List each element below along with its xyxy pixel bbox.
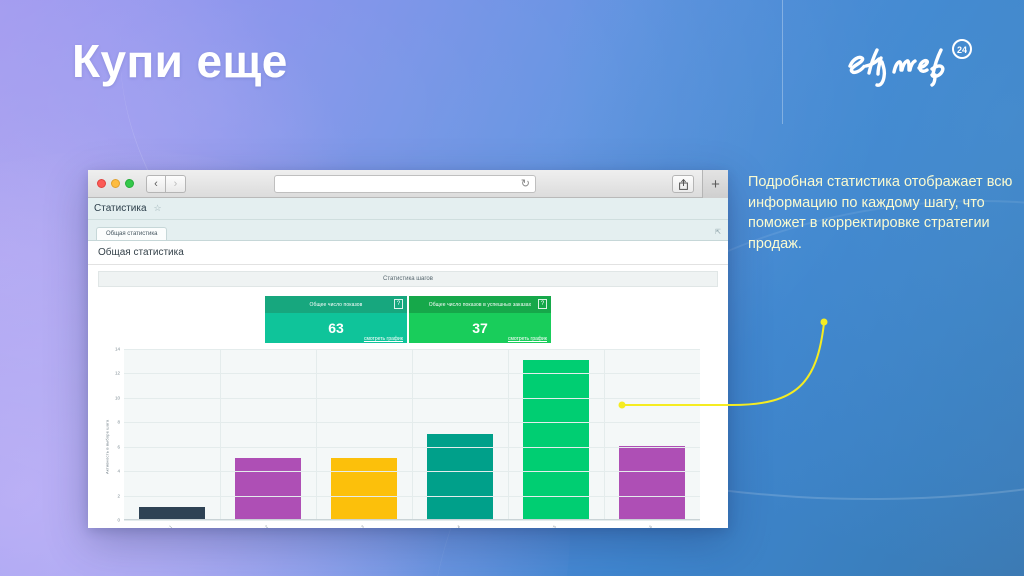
- x-tick-label: шаг 6: [642, 524, 662, 528]
- window-controls[interactable]: [97, 179, 134, 188]
- x-label-cell: шаг 1: [124, 522, 220, 528]
- share-icon[interactable]: [672, 175, 694, 193]
- reload-icon[interactable]: ↻: [521, 179, 530, 190]
- stat-card-value: 37: [472, 320, 488, 336]
- y-tick-label: 0: [117, 518, 120, 523]
- bar[interactable]: [139, 507, 205, 519]
- y-tick-label: 12: [115, 371, 120, 376]
- x-label-cell: шаг 4: [412, 522, 508, 528]
- stat-card-label: Общее число показов в успешных заказах: [429, 302, 532, 308]
- forward-icon[interactable]: ›: [166, 175, 186, 193]
- annotation-text: Подробная статистика отображает всю инфо…: [748, 172, 1016, 254]
- grid-line-vertical: [604, 349, 605, 519]
- close-icon[interactable]: [97, 179, 106, 188]
- section-title: Общая статистика: [88, 241, 728, 265]
- view-chart-link[interactable]: смотреть график: [364, 336, 403, 342]
- bar-cell: [412, 349, 508, 519]
- help-icon[interactable]: ?: [394, 299, 403, 309]
- stat-card-header: Общее число показов ?: [265, 296, 407, 313]
- browser-titlebar: ‹ › ↻ +: [88, 170, 728, 198]
- x-tick-label: шаг 3: [354, 524, 374, 528]
- stat-card-body: 63 смотреть график: [265, 313, 407, 343]
- bar[interactable]: [235, 458, 301, 519]
- stat-card-value: 63: [328, 320, 344, 336]
- stat-card-label: Общее число показов: [310, 302, 363, 308]
- page-header: Статистика ☆: [88, 198, 728, 220]
- bar[interactable]: [619, 446, 685, 519]
- content-area: Статистика шагов Общее число показов ? 6…: [88, 265, 728, 528]
- new-tab-button[interactable]: +: [702, 170, 728, 198]
- stat-card-successful-orders[interactable]: Общее число показов в успешных заказах ?…: [409, 296, 551, 343]
- x-tick-label: шаг 2: [258, 524, 278, 528]
- back-icon[interactable]: ‹: [146, 175, 166, 193]
- grid-line-horizontal: [124, 520, 700, 521]
- x-label-cell: шаг 2: [220, 522, 316, 528]
- y-tick-label: 4: [117, 469, 120, 474]
- x-axis-labels: шаг 1шаг 2шаг 3шаг 4шаг 5шаг 6: [124, 522, 700, 528]
- bar-cell: [220, 349, 316, 519]
- tab-obshaya-statistika[interactable]: Общая статистика: [96, 227, 167, 240]
- grid-line-vertical: [508, 349, 509, 519]
- navigation-buttons[interactable]: ‹ ›: [146, 175, 186, 193]
- y-tick-label: 2: [117, 493, 120, 498]
- bar-cell: [124, 349, 220, 519]
- y-tick-label: 8: [117, 420, 120, 425]
- x-tick-label: шаг 1: [162, 524, 182, 528]
- maximize-icon[interactable]: [125, 179, 134, 188]
- share-glyph: [679, 179, 688, 190]
- page-header-title: Статистика: [94, 203, 147, 214]
- minimize-icon[interactable]: [111, 179, 120, 188]
- bar[interactable]: [331, 458, 397, 519]
- plot-area: [124, 349, 700, 520]
- panel-header: Статистика шагов: [98, 271, 718, 287]
- stat-card-body: 37 смотреть график: [409, 313, 551, 343]
- logo-badge-text: 24: [957, 45, 967, 55]
- bar-cell: [316, 349, 412, 519]
- x-tick-label: шаг 5: [546, 524, 566, 528]
- header-divider: [782, 0, 783, 124]
- stat-card-header: Общее число показов в успешных заказах ?: [409, 296, 551, 313]
- pin-icon[interactable]: ⇱: [715, 228, 721, 236]
- x-label-cell: шаг 5: [508, 522, 604, 528]
- view-chart-link[interactable]: смотреть график: [508, 336, 547, 342]
- page-title: Купи еще: [72, 34, 288, 88]
- stat-card-total-views[interactable]: Общее число показов ? 63 смотреть график: [265, 296, 407, 343]
- x-label-cell: шаг 6: [604, 522, 700, 528]
- browser-window: ‹ › ↻ + Статистика ☆ Общая статистика ⇱ …: [88, 170, 728, 528]
- skyweb-logo: 24: [836, 36, 976, 90]
- bar-cell: [508, 349, 604, 519]
- help-icon[interactable]: ?: [538, 299, 547, 309]
- x-label-cell: шаг 3: [316, 522, 412, 528]
- y-tick-label: 10: [115, 395, 120, 400]
- grid-line-vertical: [220, 349, 221, 519]
- grid-line-vertical: [412, 349, 413, 519]
- y-axis-ticks: 02468101214: [110, 349, 122, 520]
- skyweb-logo-mark: 24: [836, 36, 976, 90]
- bar-cell: [604, 349, 700, 519]
- url-input[interactable]: ↻: [274, 175, 536, 193]
- star-icon[interactable]: ☆: [154, 203, 162, 214]
- stat-cards: Общее число показов ? 63 смотреть график…: [98, 296, 718, 343]
- y-tick-label: 14: [115, 347, 120, 352]
- x-tick-label: шаг 4: [450, 524, 470, 528]
- tab-strip: Общая статистика ⇱: [88, 220, 728, 241]
- grid-line-vertical: [316, 349, 317, 519]
- bar-chart: Активность в выборе шага 02468101214 шаг…: [98, 349, 718, 528]
- y-tick-label: 6: [117, 444, 120, 449]
